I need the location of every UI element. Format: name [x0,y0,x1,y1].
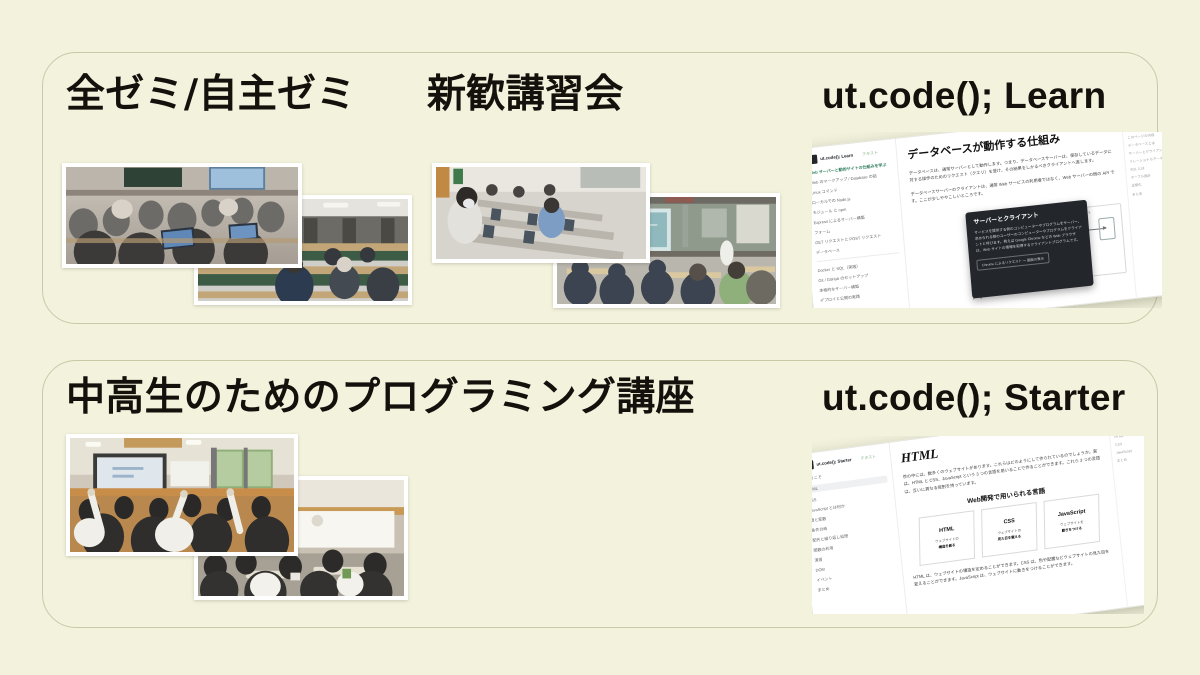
language-card-html: HTML ウェブサイトの 構造を創る [919,510,975,566]
heading-starter: ut.code(); Starter [822,379,1125,416]
photo-lecture-hall-laptops [62,163,302,268]
card-desc-line2: 構造を創る [939,543,956,549]
rail-item[interactable]: リレーショナルデータベース [1129,156,1162,164]
rail-item[interactable]: まとめ [1132,188,1162,196]
heading-learn: ut.code(); Learn [822,77,1106,114]
rail-item[interactable]: サーバーとクライアント [1129,148,1162,156]
rail-item[interactable]: データベースとは [1128,140,1162,148]
starter-brand-label: ut.code(); Starter [816,457,852,467]
rail-item[interactable]: CSS [1115,438,1144,447]
learn-tooltip-card: サーバーとクライアント サービスを提供する側のコンピューターやプログラムをサーバ… [966,200,1094,299]
utcode-logo-icon [812,155,818,165]
learn-brand-label: ut.code(); Learn [820,153,853,162]
language-card-css: CSS ウェブサイトの 見た目を整える [982,502,1038,558]
photo-school-hands-up [66,434,298,556]
learn-sidebar: ut.code(); Learn テキスト Web サーバーと動的サイトの仕組み… [812,139,911,308]
screenshot-learn: ut.code(); Learn テキスト Web サーバーと動的サイトの仕組み… [812,132,1162,308]
rail-item[interactable]: SQL とは [1130,164,1162,172]
heading-chuko: 中高生のためのプログラミング講座 [66,378,695,417]
rail-item[interactable]: このページの内容 [1127,132,1162,140]
slide-root: 全ゼミ/自主ゼミ 新歓講習会 ut.code(); Learn [0,0,1200,675]
rail-item[interactable]: HTML [1114,436,1144,439]
heading-shinkan: 新歓講習会 [427,75,624,114]
heading-zemi: 全ゼミ/自主ゼミ [66,75,356,114]
collage-shinkan [432,163,780,308]
learn-page: ut.code(); Learn テキスト Web サーバーと動的サイトの仕組み… [812,132,1162,308]
tooltip-button[interactable]: Chrome によるリクエスト 〜 画面の表示 [977,252,1050,271]
diagram-server-box [1098,217,1116,241]
card-title: CSS [1004,518,1015,526]
card-title: JavaScript [1058,509,1086,519]
starter-browser-card: ut.code(); Starter テキスト ようこそ HTML CSS Ja… [812,436,1144,614]
starter-main: HTML 世の中には、数多くのウェブサイトがあります。これらはどのようにして作ら… [889,436,1127,614]
screenshot-starter: ut.code(); Starter テキスト ようこそ HTML CSS Ja… [812,436,1144,614]
learn-main: データベースが動作する仕組み データベースは、通常サーバーとして動作します。つま… [896,132,1136,308]
card-title: HTML [939,526,954,534]
starter-page: ut.code(); Starter テキスト ようこそ HTML CSS Ja… [812,436,1144,614]
learn-nav-text[interactable]: テキスト [862,149,878,157]
rail-item[interactable]: テーブル設計 [1131,172,1162,180]
rail-item[interactable]: 正規化 [1131,180,1162,188]
collage-zemi [62,163,412,305]
photo-classroom-desks [432,163,650,263]
language-card-javascript: JavaScript ウェブサイトを 動きをつける [1044,494,1100,550]
learn-browser-card: ut.code(); Learn テキスト Web サーバーと動的サイトの仕組み… [812,132,1162,308]
rail-item[interactable]: JavaScript [1116,446,1144,455]
utcode-logo-icon [812,460,814,470]
starter-nav-text[interactable]: テキスト [860,453,876,461]
collage-chuko [66,434,408,600]
rail-item[interactable]: まとめ [1117,454,1144,463]
